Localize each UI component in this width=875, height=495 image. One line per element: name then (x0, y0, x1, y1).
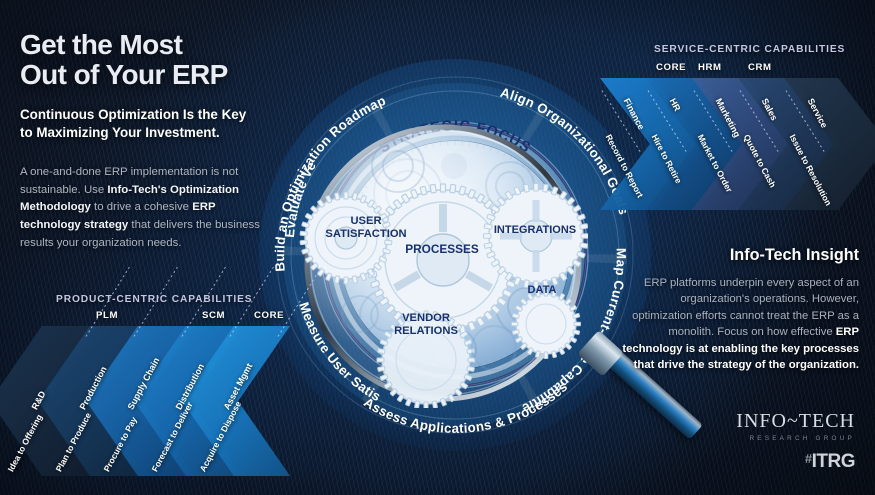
gear-label-vendor-relations: VENDOR RELATIONS (376, 312, 476, 337)
logo-itrg-hashtag: #ITRG (736, 451, 855, 473)
info-tech-insight-panel: Info-Tech Insight ERP platforms underpin… (619, 246, 859, 374)
capability-category: SCM (202, 310, 225, 321)
info-tech-logo: INFO~TECH RESEARCH GROUP #ITRG (736, 410, 855, 473)
page-subtitle: Continuous Optimization Is the Key to Ma… (20, 106, 278, 142)
gear-label-data: DATA (512, 284, 572, 296)
product-capabilities-title: PRODUCT-CENTRIC CAPABILITIES (56, 294, 253, 305)
insight-body: ERP platforms underpin every aspect of a… (619, 275, 859, 374)
gear-label-integrations: INTEGRATIONS (487, 224, 583, 236)
capability-category: CORE (254, 310, 284, 321)
left-text-panel: Get the Most Out of Your ERP Continuous … (20, 30, 278, 252)
hash-icon: # (805, 451, 812, 466)
service-capabilities-chevrons: FinanceRecord to ReportHRHire to RetireM… (600, 62, 875, 212)
capability-category: HRM (698, 62, 722, 73)
logo-wordmark: INFO~TECH (736, 410, 855, 433)
capability-category: CRM (748, 62, 772, 73)
gear-label-processes: PROCESSES (392, 243, 492, 256)
service-capabilities-title: SERVICE-CENTRIC CAPABILITIES (654, 44, 845, 55)
capability-category: PLM (96, 310, 118, 321)
intro-paragraph: A one-and-done ERP implementation is not… (20, 164, 278, 252)
insight-title: Info-Tech Insight (619, 246, 859, 265)
infographic-canvas: Build an Optimization Roadmap Align Orga… (0, 0, 875, 495)
logo-tagline: RESEARCH GROUP (736, 435, 855, 442)
page-title: Get the Most Out of Your ERP (20, 30, 278, 90)
capability-category: CORE (656, 62, 686, 73)
product-capabilities-chevrons: R&DIdea to OfferingProductionPlan to Pro… (0, 312, 290, 477)
magnifier-lens (298, 118, 588, 408)
gear-label-user-satisfaction: USER SATISFACTION (318, 215, 414, 240)
